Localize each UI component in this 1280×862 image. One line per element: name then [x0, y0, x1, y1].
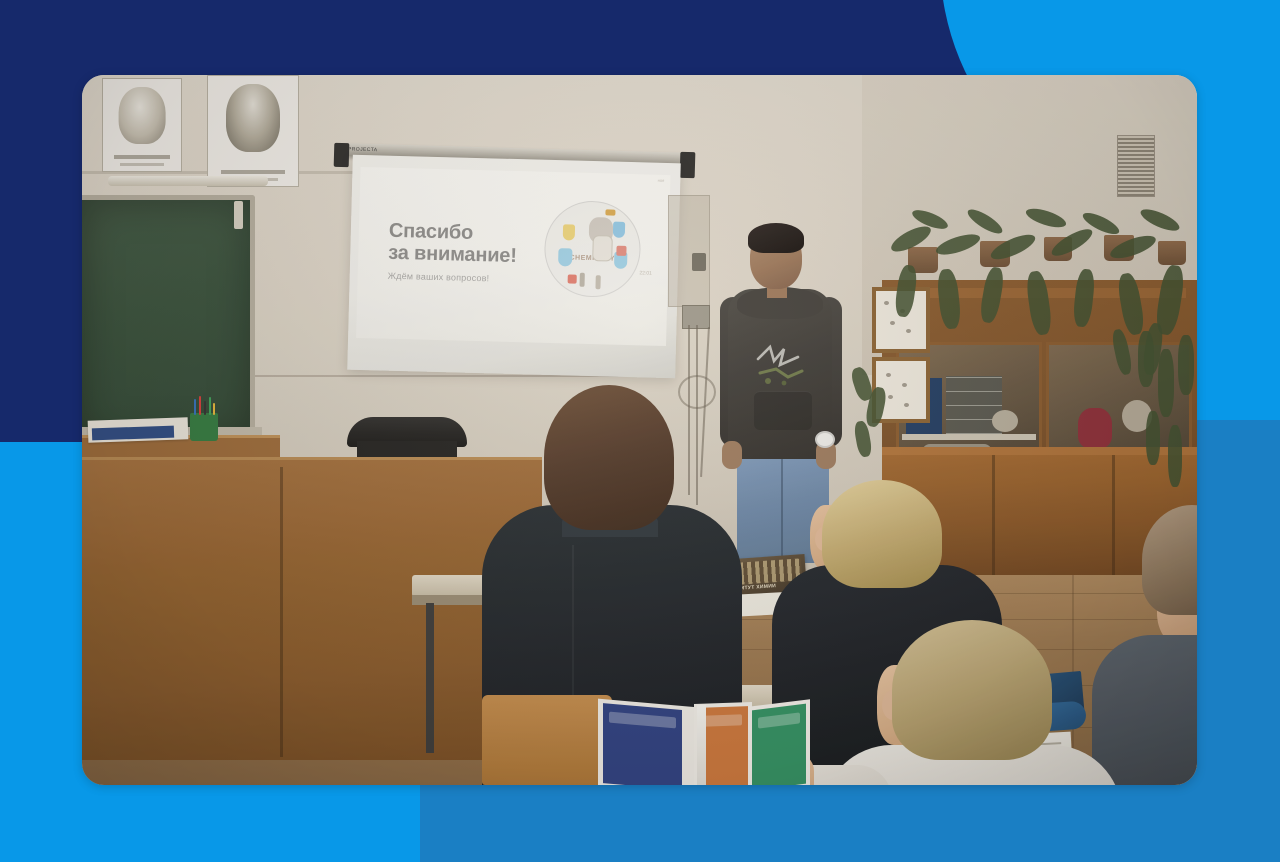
- slide-chemistry-graphic: CHEMISTRY: [543, 200, 641, 298]
- presenter-hoodie-pocket: [754, 391, 812, 430]
- wall-ledge: [108, 176, 268, 186]
- lab-coat-icon: [592, 235, 613, 262]
- brochure-spine: [697, 705, 706, 785]
- brochure-page-right: [748, 699, 810, 785]
- presenter-hoodie-print: [754, 343, 810, 389]
- cable-2: [696, 325, 698, 505]
- flask-icon-cyan: [613, 222, 625, 238]
- cable-1: [688, 325, 690, 495]
- plant-hanging-right: [1132, 325, 1197, 515]
- student-desk-1-leg: [426, 603, 434, 753]
- cabinet-seam-2: [1112, 455, 1115, 575]
- slide-title-line2: за внимание!: [388, 242, 517, 267]
- wall-socket: [692, 253, 706, 271]
- projector-brand-label: PROJECTA: [348, 146, 378, 153]
- beaker-icon-red: [616, 246, 626, 256]
- open-brochure: [598, 703, 804, 785]
- brochure-col-1-lines: [609, 730, 676, 736]
- brochure-col-1-heading: [609, 712, 676, 729]
- slide-title-line1: Спасибо: [389, 220, 474, 244]
- brochure-col-3-heading: [758, 712, 800, 728]
- presenter-leg-seam: [781, 453, 783, 561]
- classroom-photo: PROJECTA ноя Спасибо за внимание! Ждём в…: [82, 75, 1197, 785]
- portrait-years: [120, 163, 164, 166]
- brochure-col-2-heading: [704, 714, 742, 726]
- specimen-red: [1078, 408, 1112, 448]
- chalkboard-clip: [234, 201, 243, 229]
- ventilation-grille-icon: [1117, 135, 1155, 197]
- student-b-hair: [822, 480, 942, 588]
- wall-panel: [668, 195, 710, 307]
- portrait-nameplate: [221, 170, 286, 174]
- projected-slide: ноя Спасибо за внимание! Ждём ваших вопр…: [356, 167, 670, 346]
- book-icon-red: [568, 274, 577, 283]
- chalkboard: [82, 195, 255, 445]
- presenter-hair: [748, 223, 804, 253]
- plant-left-of-cabinet: [854, 363, 890, 473]
- poster-stage: PROJECTA ноя Спасибо за внимание! Ждём в…: [0, 0, 1280, 862]
- presenter-wristwatch: [815, 431, 835, 448]
- portrait-frame-timiryazev: [207, 75, 299, 187]
- test-tube-icon: [579, 273, 584, 287]
- student-d-body: [1092, 635, 1197, 785]
- flask-icon-yellow: [563, 224, 575, 240]
- pipette-icon: [595, 275, 600, 289]
- flask-icon-blue: [558, 248, 572, 266]
- teacher-desk-front: [82, 457, 542, 760]
- brochure-page-left: [598, 699, 698, 785]
- cable-loop: [678, 375, 716, 409]
- portrait-face: [226, 84, 280, 152]
- hoodie-graphic-icon: [754, 343, 810, 389]
- screen-bracket-left: [334, 143, 350, 167]
- brochure-col-2-lines: [704, 732, 742, 733]
- slide-subtitle: Ждём ваших вопросов!: [388, 271, 490, 284]
- portrait-face: [119, 87, 166, 144]
- portrait-frame-linnaeus: [102, 78, 182, 172]
- specimen-bird: [992, 410, 1018, 432]
- brochure-col-3-lines: [758, 730, 800, 735]
- presenter-hand-left: [722, 441, 742, 469]
- student-c-hair: [892, 620, 1052, 760]
- cabinet-shelf: [902, 434, 1036, 440]
- pen-holder: [190, 413, 218, 441]
- slide-corner-mark: ноя: [658, 178, 665, 183]
- slide-title: Спасибо за внимание!: [388, 220, 518, 268]
- student-a-hair: [544, 385, 674, 530]
- teacher-desk-seam: [280, 467, 283, 757]
- student-chair-wood: [482, 695, 612, 785]
- slide-edge-mark: 22:01: [639, 270, 652, 276]
- projection-screen: ноя Спасибо за внимание! Ждём ваших вопр…: [347, 155, 681, 379]
- atom-icon-orange: [605, 209, 615, 215]
- portrait-nameplate: [114, 155, 170, 159]
- cabinet-seam: [992, 455, 995, 575]
- screen-bracket-right: [680, 152, 696, 178]
